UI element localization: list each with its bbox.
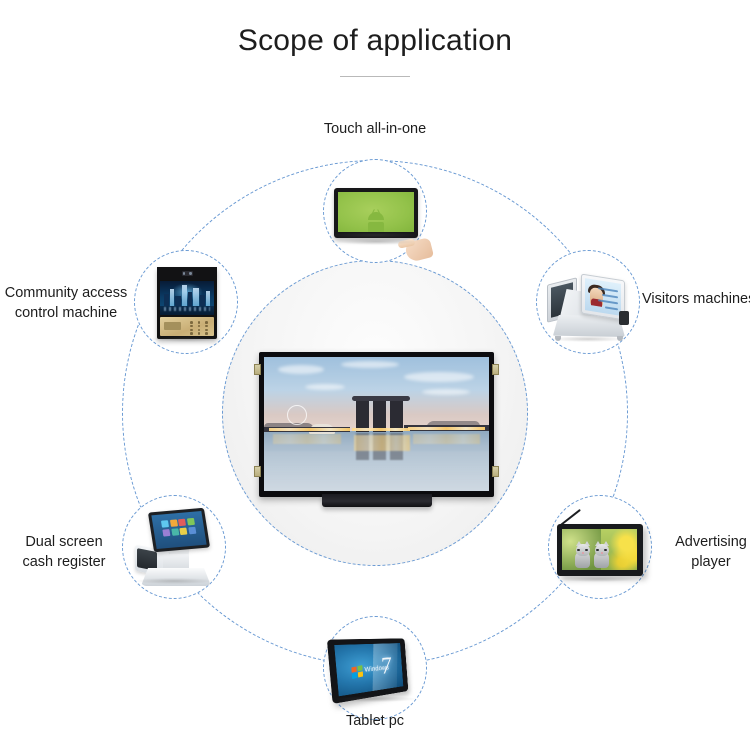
page-title: Scope of application — [0, 24, 750, 58]
shadow — [334, 696, 416, 702]
label-dual-screen-cash-register: Dual screen cash register — [6, 533, 122, 572]
water-sheen — [264, 451, 489, 491]
windows-logo-icon — [351, 665, 363, 679]
label-community-access-control-machine: Community access control machine — [0, 284, 134, 323]
panel-screen — [160, 281, 214, 315]
digital-signage-display-icon — [549, 496, 651, 598]
kitten — [593, 544, 610, 568]
display-screen — [562, 529, 637, 570]
node-tablet-pc[interactable]: Windows 7 — [323, 616, 427, 720]
lcd-screen — [264, 357, 489, 491]
app-tiles[interactable] — [161, 518, 196, 536]
mount-bracket — [492, 364, 499, 375]
monitor-frame — [334, 188, 418, 238]
reflection — [273, 434, 341, 444]
label-tablet-pc: Tablet pc — [305, 712, 445, 732]
water-reflection — [160, 306, 214, 315]
cloud — [278, 365, 324, 374]
display-frame — [557, 524, 643, 576]
shadow — [558, 576, 638, 582]
reflection — [354, 435, 410, 451]
keypad[interactable] — [188, 321, 210, 335]
mini-display — [164, 322, 181, 330]
cloud — [404, 372, 474, 382]
shadow — [552, 336, 624, 342]
node-touch-all-in-one[interactable] — [323, 159, 427, 263]
tablet-pc-icon: Windows 7 — [324, 617, 426, 719]
city-lights — [352, 428, 411, 431]
label-advertising-player: Advertising player — [656, 533, 750, 572]
kitten — [574, 544, 591, 568]
shadow — [332, 232, 418, 238]
visitor-photo — [590, 287, 603, 307]
mount-bracket — [254, 466, 261, 477]
screen-glare — [373, 643, 398, 696]
reflection-glow — [336, 238, 416, 245]
city-lights — [269, 428, 350, 431]
panel-body — [157, 267, 217, 339]
tablet-screen[interactable]: Windows 7 — [334, 643, 403, 696]
skypark-deck — [352, 396, 411, 401]
label-visitors-machines: Visitors machines — [642, 290, 750, 310]
title-divider — [340, 76, 410, 77]
camera-icon — [182, 271, 193, 276]
main-touchscreen[interactable] — [148, 508, 210, 552]
cloud — [341, 361, 399, 368]
android-touch-monitor-icon — [324, 160, 426, 262]
shadow — [136, 578, 212, 584]
panel-keypad-area[interactable] — [160, 317, 214, 336]
ferris-wheel — [287, 405, 307, 425]
card-reader[interactable] — [619, 311, 629, 325]
mount-bracket — [254, 364, 261, 375]
shadow — [150, 336, 222, 342]
panel-top-bar — [157, 267, 217, 280]
lcd-display-panel — [259, 352, 494, 497]
lcd-panel-base — [322, 494, 432, 507]
tablet-frame: Windows 7 — [327, 638, 408, 704]
reflection — [413, 434, 481, 444]
cloud — [305, 384, 345, 390]
city-lights — [408, 427, 485, 430]
label-touch-all-in-one: Touch all-in-one — [275, 120, 475, 140]
monitor-screen — [338, 192, 414, 232]
application-scope-infographic: Scope of application — [0, 0, 750, 750]
node-advertising-player[interactable] — [548, 495, 652, 599]
mount-bracket — [492, 466, 499, 477]
